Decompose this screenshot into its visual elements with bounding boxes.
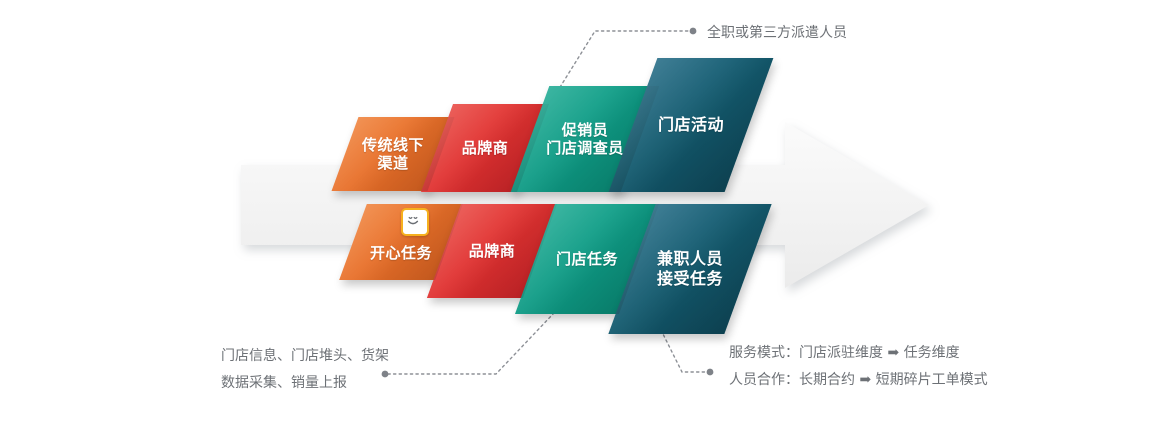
step-label: 门店任务 (552, 250, 622, 268)
annotation-staffing: 全职或第三方派遣人员 (707, 20, 847, 47)
step-bottom-parttime-accept-task[interactable]: 兼职人员接受任务 (632, 204, 748, 334)
step-label: 品牌商 (458, 139, 513, 157)
connector-dot-top (690, 28, 697, 35)
step-bottom-happy-task[interactable]: 开心任务 (353, 204, 449, 280)
diagram-canvas: 传统线下渠道 品牌商 促销员门店调查员 门店活动 开心任务 品牌商 门店任务 兼… (0, 0, 1150, 430)
annotation-line: 门店信息、门店堆头、货架 (221, 343, 389, 370)
annotation-line: 服务模式：门店派驻维度 ➡ 任务维度 (729, 340, 988, 367)
step-label: 品牌商 (465, 242, 520, 260)
annotation-data-collection: 门店信息、门店堆头、货架 数据采集、销量上报 (221, 343, 389, 397)
smiley-icon (401, 208, 429, 236)
connector-dot-right (707, 369, 714, 376)
step-label: 兼职人员接受任务 (653, 249, 727, 288)
step-label: 传统线下渠道 (358, 136, 428, 173)
annotation-line: 全职或第三方派遣人员 (707, 20, 847, 47)
annotation-line: 数据采集、销量上报 (221, 370, 389, 397)
step-label: 促销员门店调查员 (542, 121, 628, 158)
annotation-line: 人员合作：长期合约 ➡ 短期碎片工单模式 (729, 367, 988, 394)
annotation-service-model: 服务模式：门店派驻维度 ➡ 任务维度 人员合作：长期合约 ➡ 短期碎片工单模式 (729, 340, 988, 394)
step-top-store-activity[interactable]: 门店活动 (633, 58, 749, 192)
step-label: 门店活动 (654, 115, 728, 135)
